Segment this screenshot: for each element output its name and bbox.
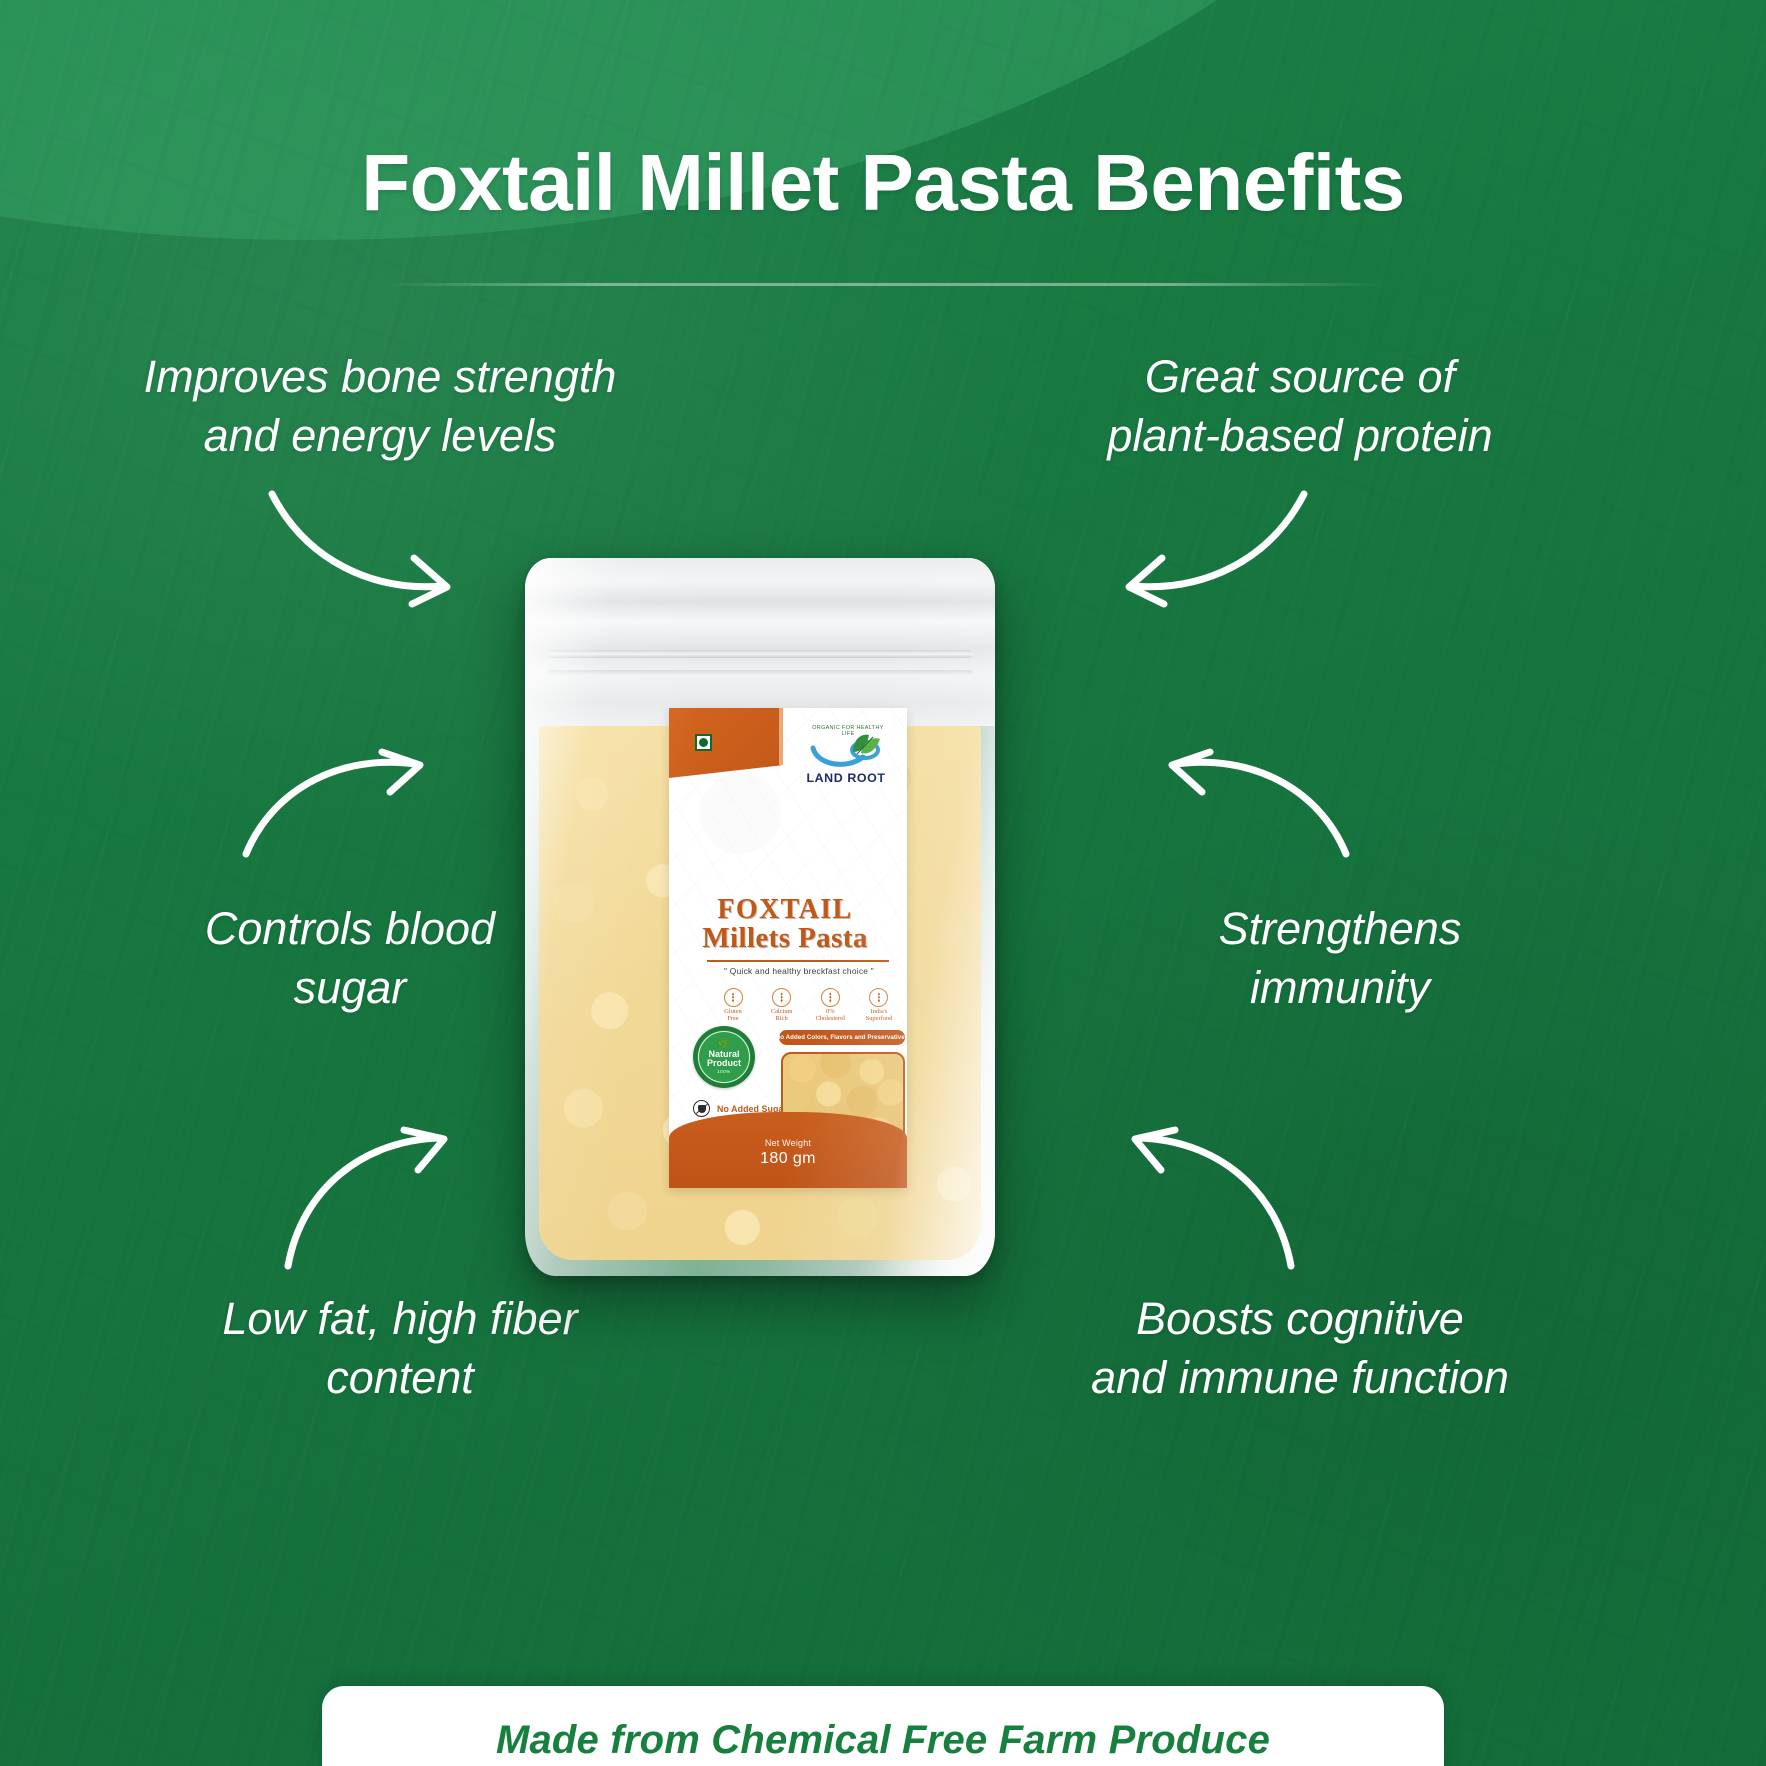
feature-superfood: India's Superfood: [857, 988, 901, 1023]
brand-name: LAND ROOT: [787, 771, 905, 785]
feature-label: India's Superfood: [857, 1008, 901, 1023]
footer-text: Made from Chemical Free Farm Produce: [496, 1718, 1270, 1763]
heart-icon: [821, 988, 840, 1007]
brand-logo-icon: ORGANIC FOR HEALTHY LIFE: [803, 726, 889, 772]
feature-label: Calcium Rich: [760, 1008, 804, 1023]
net-weight-value: 180 gm: [669, 1150, 907, 1168]
title-divider: [383, 283, 1383, 286]
seal-ring: [698, 1031, 750, 1083]
net-weight-band: Net Weight 180 gm: [669, 1112, 907, 1188]
benefit-label-1: Improves bone strength and energy levels: [60, 348, 700, 465]
label-flag-edge: [779, 708, 783, 765]
footer-banner: Made from Chemical Free Farm Produce: [322, 1686, 1444, 1766]
feature-calcium-rich: Calcium Rich: [760, 988, 804, 1023]
brand-tagline-arc: ORGANIC FOR HEALTHY LIFE: [809, 725, 887, 755]
page-title: Foxtail Millet Pasta Benefits: [0, 137, 1766, 229]
wheat-icon: [724, 988, 743, 1007]
natural-product-seal: 🌿 Natural Product 100%: [693, 1026, 755, 1088]
feature-cholesterol: 0% Cholesterol: [808, 988, 852, 1023]
grain-icon: [869, 988, 888, 1007]
product-title-underline: [707, 960, 889, 962]
zip-seal-line-secondary: [547, 670, 973, 675]
benefit-label-2: Great source of plant-based protein: [950, 348, 1650, 465]
ribbon-text: No Added Colors, Flavors and Preservativ…: [776, 1034, 907, 1041]
benefit-label-6: Boosts cognitive and immune function: [930, 1290, 1670, 1407]
product-label: ORGANIC FOR HEALTHY LIFE LAND ROOT FOXTA…: [669, 708, 907, 1188]
feature-label: Gluten Free: [711, 1008, 755, 1023]
feature-label: 0% Cholesterol: [808, 1008, 852, 1023]
feature-icon-row: Gluten Free Calcium Rich 0% Cholesterol …: [711, 988, 901, 1023]
product-title-line2: Millets Pasta: [669, 922, 901, 955]
pouch-body: ORGANIC FOR HEALTHY LIFE LAND ROOT FOXTA…: [525, 558, 995, 1276]
product-package: ORGANIC FOR HEALTHY LIFE LAND ROOT FOXTA…: [525, 558, 995, 1276]
brand-block: ORGANIC FOR HEALTHY LIFE LAND ROOT: [787, 726, 905, 785]
no-additives-ribbon: No Added Colors, Flavors and Preservativ…: [779, 1030, 905, 1045]
zip-seal-line: [547, 650, 973, 658]
vegetarian-dot: [699, 738, 708, 747]
pouch-zip-header: [525, 558, 995, 726]
feature-gluten-free: Gluten Free: [711, 988, 755, 1023]
vegetarian-mark-icon: [695, 734, 712, 751]
benefit-label-5: Low fat, high fiber content: [60, 1290, 740, 1407]
no-sugar-icon: [693, 1100, 710, 1117]
benefit-label-4: Strengthens immunity: [1030, 900, 1650, 1017]
milk-glass-icon: [772, 988, 791, 1007]
product-tagline: " Quick and healthy breckfast choice ": [697, 966, 901, 976]
net-weight-label: Net Weight: [669, 1138, 907, 1148]
